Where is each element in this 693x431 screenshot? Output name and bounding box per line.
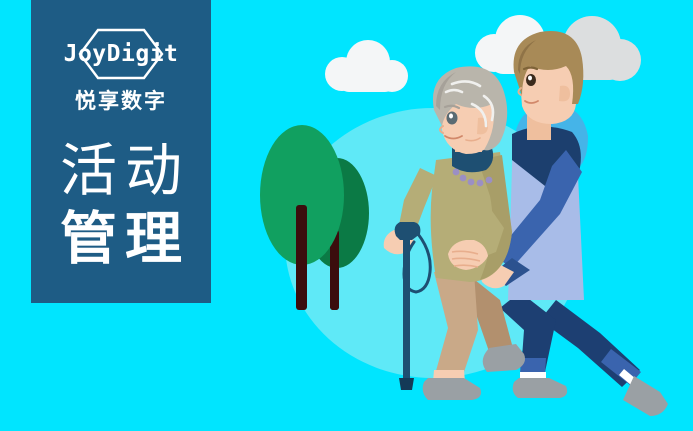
- page-title: 活动 管理: [52, 142, 190, 270]
- brand-panel: JoyDigit 悦享数字 活动 管理: [31, 0, 211, 303]
- brand-lockup: JoyDigit: [46, 26, 196, 82]
- brand-wordmark: JoyDigit: [64, 43, 179, 66]
- poster-canvas: JoyDigit 悦享数字 活动 管理: [0, 0, 693, 431]
- page-title-line-1: 活动: [52, 142, 190, 202]
- page-title-line-2: 管理: [52, 210, 190, 270]
- cloud-left: [325, 40, 408, 92]
- brand-subtitle: 悦享数字: [75, 91, 167, 112]
